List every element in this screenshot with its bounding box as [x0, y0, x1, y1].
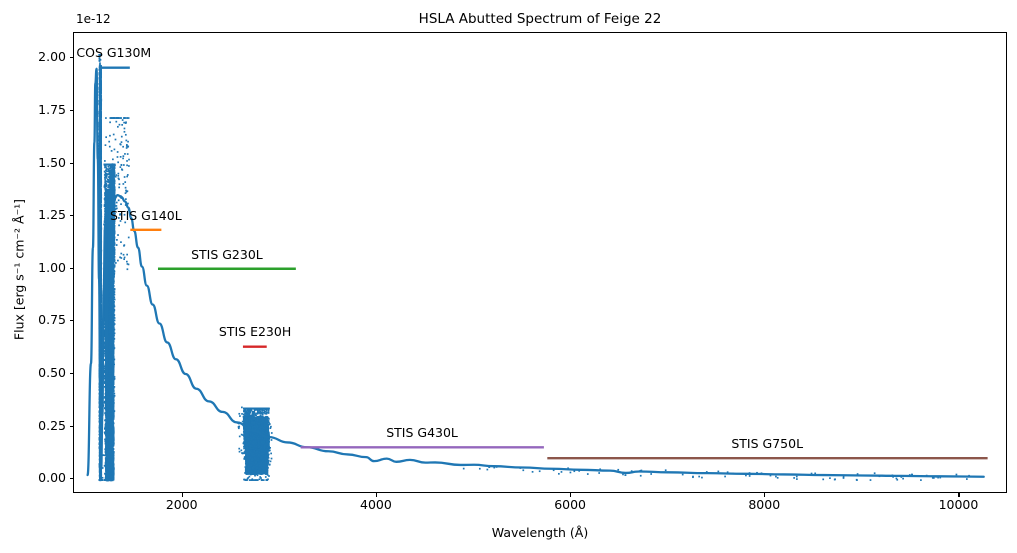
- x-axis-label: Wavelength (Å): [73, 525, 1007, 540]
- x-tick-label: 6000: [530, 497, 610, 512]
- page-title: HSLA Abutted Spectrum of Feige 22: [73, 10, 1007, 28]
- annotation-label-cos-g130m: COS G130M: [76, 45, 151, 60]
- x-tick-mark: [376, 493, 377, 497]
- x-tick-mark: [182, 493, 183, 497]
- x-tick-mark: [958, 493, 959, 497]
- x-tick-label: 2000: [142, 497, 222, 512]
- y-tick-label: 2.00: [20, 49, 66, 64]
- annotation-label-stis-e230h: STIS E230H: [219, 324, 291, 339]
- instrument-annotation-lines: [99, 68, 988, 458]
- y-tick-label: 1.25: [20, 207, 66, 222]
- annotation-label-stis-g230l: STIS G230L: [191, 247, 263, 262]
- x-tick-mark: [764, 493, 765, 497]
- y-tick-label: 0.25: [20, 418, 66, 433]
- y-tick-label: 0.75: [20, 312, 66, 327]
- x-tick-label: 8000: [724, 497, 804, 512]
- spectrum-continuum-line: [88, 69, 984, 477]
- plot-area: COS G130MSTIS G140LSTIS G230LSTIS E230HS…: [73, 32, 1007, 493]
- spectrum-plot: [74, 33, 1007, 493]
- y-tick-label: 0.00: [20, 470, 66, 485]
- matplotlib-figure: HSLA Abutted Spectrum of Feige 22 1e-12 …: [0, 0, 1017, 553]
- y-tick-label: 1.00: [20, 260, 66, 275]
- y-tick-label: 1.50: [20, 155, 66, 170]
- x-tick-label: 10000: [918, 497, 998, 512]
- y-axis-offset-text: 1e-12: [76, 12, 111, 26]
- annotation-label-stis-g430l: STIS G430L: [386, 425, 458, 440]
- y-tick-label: 0.50: [20, 365, 66, 380]
- annotation-label-stis-g140l: STIS G140L: [110, 208, 182, 223]
- annotation-label-stis-g750l: STIS G750L: [731, 436, 803, 451]
- x-tick-mark: [570, 493, 571, 497]
- y-tick-label: 1.75: [20, 102, 66, 117]
- x-tick-label: 4000: [336, 497, 416, 512]
